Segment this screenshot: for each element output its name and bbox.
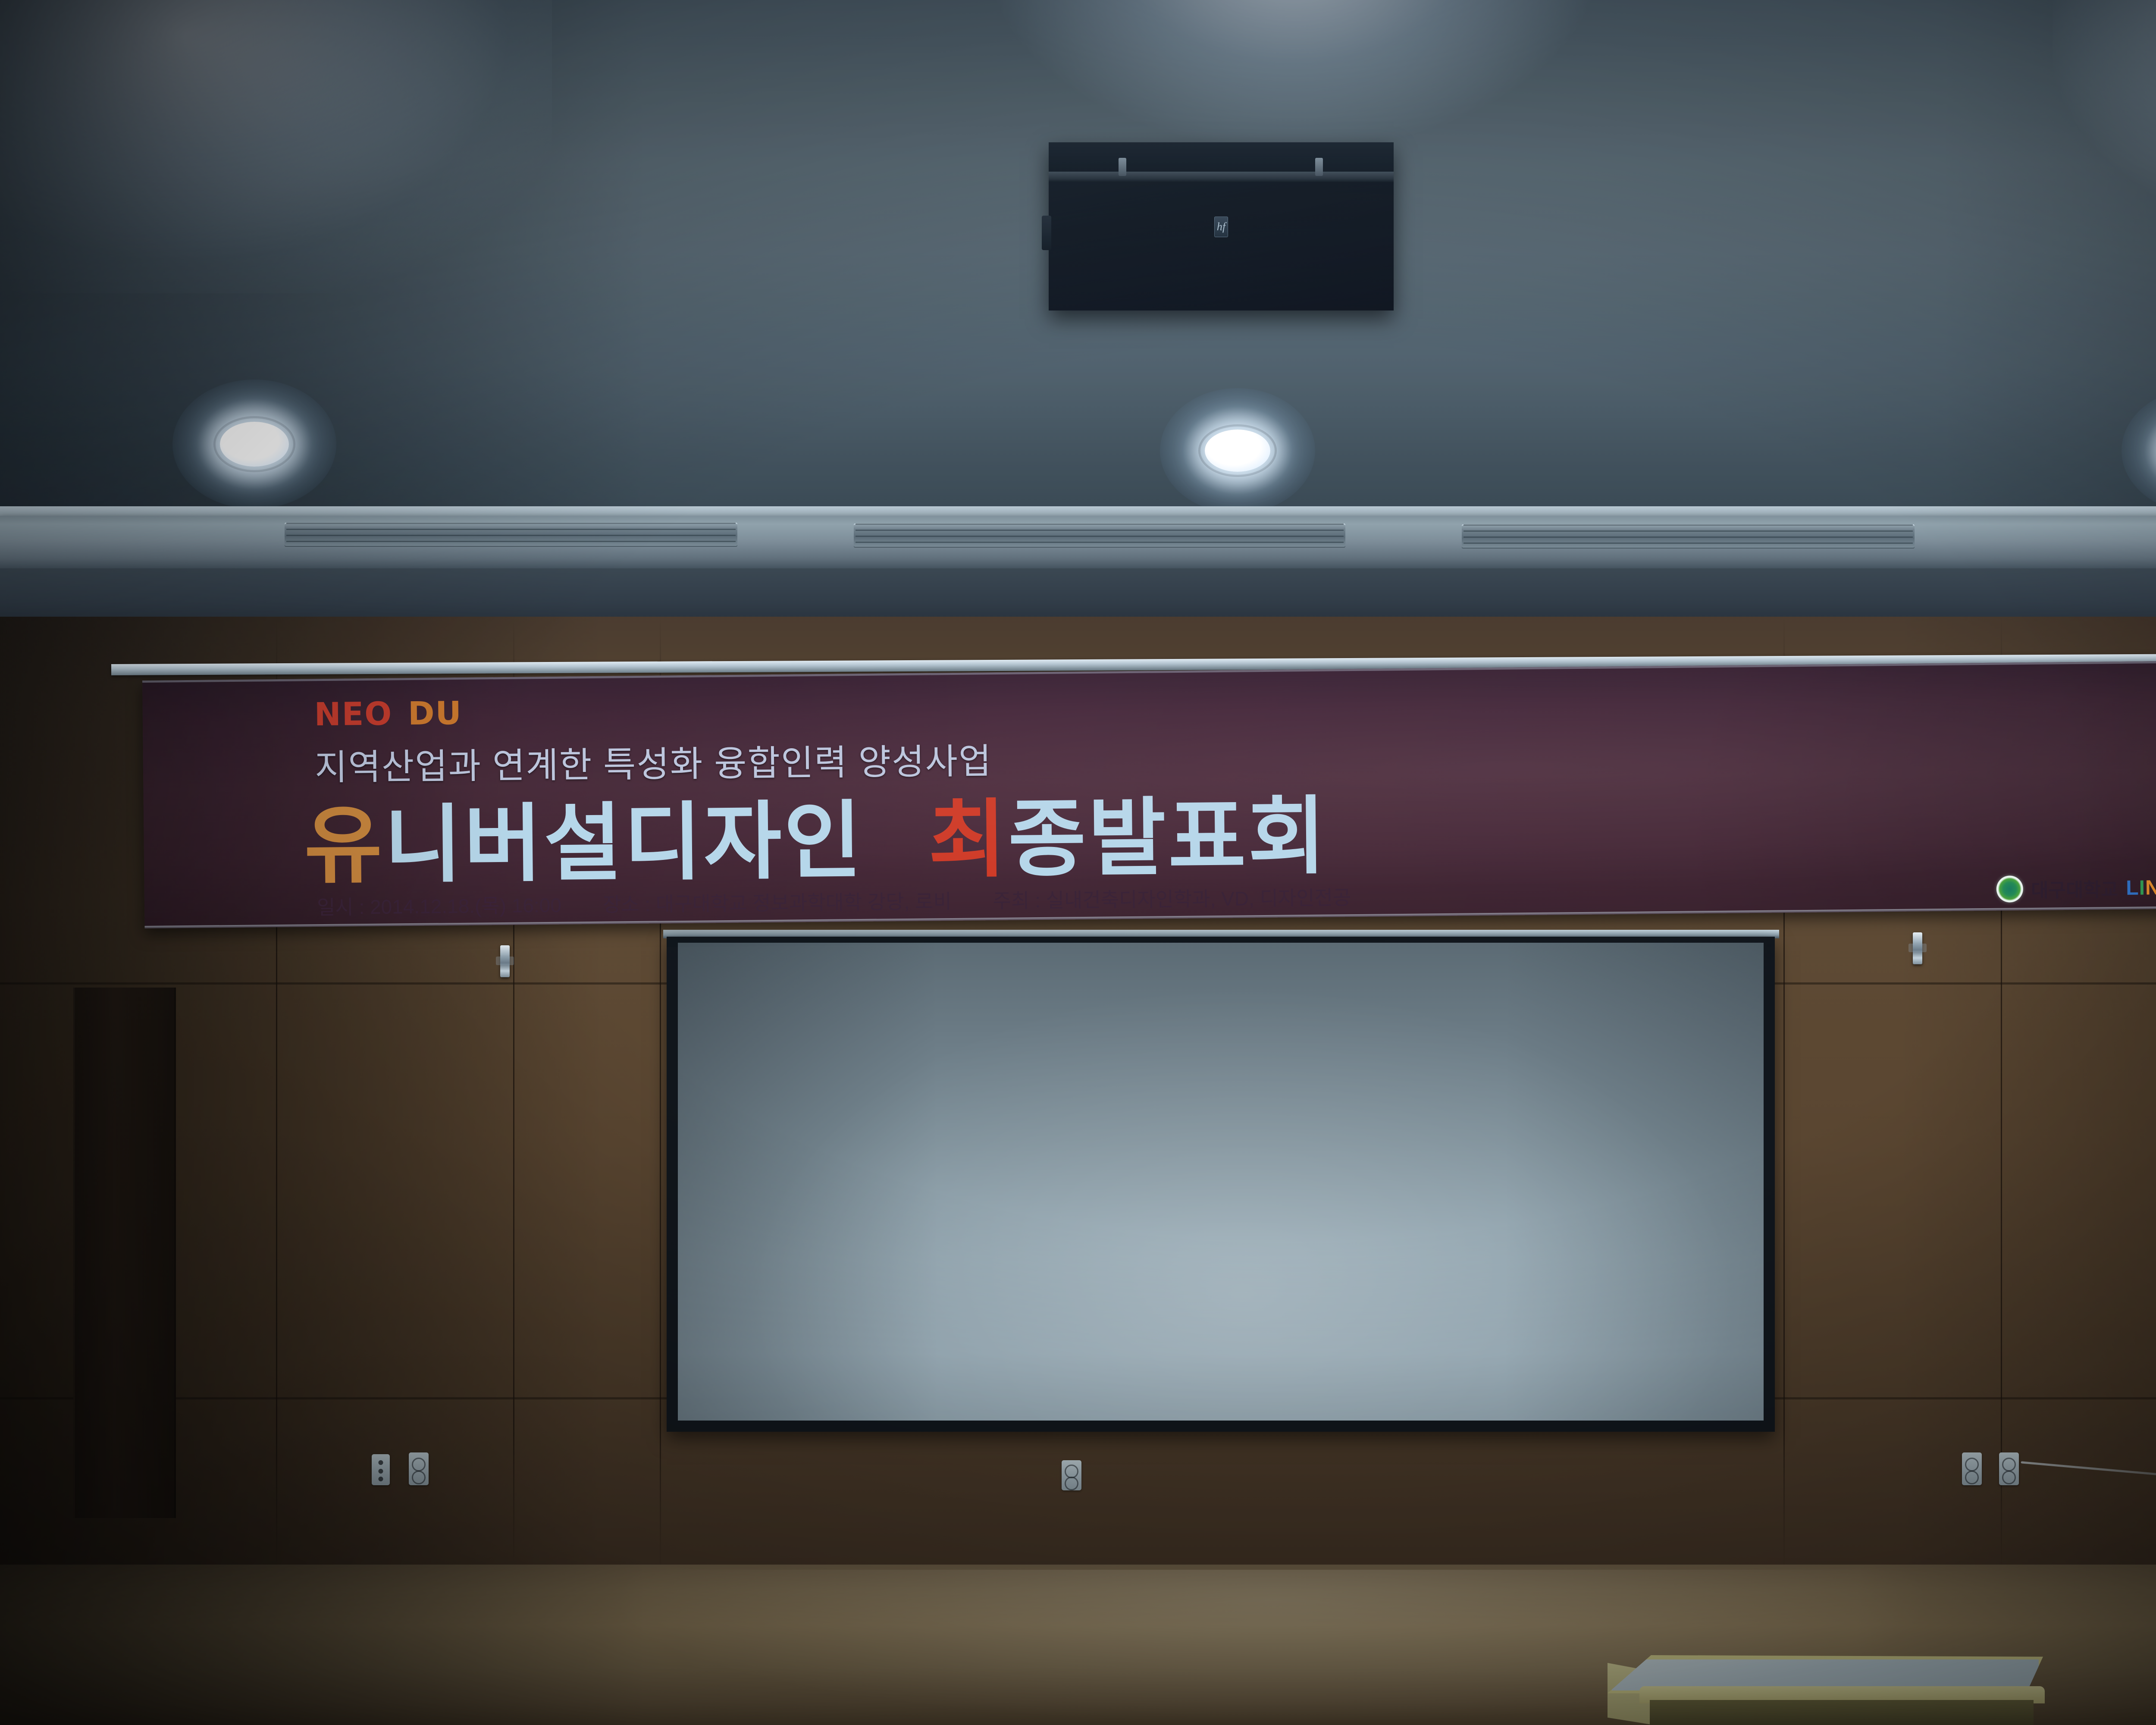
banner-title-accent-2: 최 <box>928 792 1009 888</box>
projection-screen-surface <box>678 943 1764 1421</box>
speaker-bracket-right <box>1315 158 1323 176</box>
linc-logo-lockup: 대구대학교 LINC 사업단 <box>1996 873 2156 903</box>
ceiling-vent-center <box>854 524 1345 548</box>
projection-screen <box>667 937 1775 1432</box>
plate-port <box>379 1469 383 1474</box>
plate-socket <box>1965 1471 1979 1484</box>
linc-letter-l: L <box>2126 876 2139 899</box>
plate-socket <box>1065 1477 1078 1490</box>
event-banner: NEODU 지역산업과 연계한 특성화 융합인력 양성사업 유니버설디자인최종발… <box>142 660 2156 928</box>
speaker-side-ear <box>1042 216 1051 250</box>
banner-title: 유니버설디자인최종발표회 <box>304 794 1329 889</box>
downlight-halo <box>2122 388 2156 513</box>
neodu-logo-neo: NEO <box>314 695 392 733</box>
downlight-bulb <box>1205 430 1270 472</box>
banner-clip-right <box>1913 932 1922 964</box>
ceiling-vent-left <box>285 523 737 547</box>
banner-title-main-2: 종발표회 <box>1008 789 1328 887</box>
floor-shadow-left <box>0 1565 647 1725</box>
downlight-right <box>2122 388 2156 513</box>
podium-body <box>1650 1700 2034 1725</box>
wall-plate-right[interactable] <box>1962 1452 1982 1485</box>
ceiling-glow-top-center <box>992 0 1595 147</box>
banner-info-location: 장소 : 대구대학교 정보과학대학 강당, 로비 <box>603 891 952 915</box>
linc-leaf-mark-icon <box>1996 875 2024 903</box>
wall-plate-left[interactable] <box>372 1454 390 1485</box>
podium[interactable] <box>1598 1655 2055 1725</box>
linc-wordmark: LINC <box>2126 875 2156 900</box>
ceiling-vent-right <box>1462 524 1915 549</box>
ceiling-speaker: hf <box>1049 142 1394 310</box>
speaker-bracket-left <box>1119 158 1126 176</box>
banner-info-host: 주최 : 실내건축디자인학과, VD, 디자인전공 <box>993 888 1351 911</box>
plate-socket <box>2002 1458 2016 1471</box>
photo-scene: hf NEODU 지역산업과 연계한 특성화 융합인력 양성사업 <box>0 0 2156 1725</box>
wall-plate-center[interactable] <box>1062 1460 1081 1490</box>
banner-title-main-1: 니버설디자인 <box>384 793 864 893</box>
downlight-left <box>172 379 336 509</box>
neodu-logo-du: DU <box>408 695 462 732</box>
speaker-brand-badge: hf <box>1214 216 1228 237</box>
banner-info-datetime: 일시 : 2014.12.18.(목) 16:00 <box>317 895 561 917</box>
linc-letter-n: N <box>2145 876 2156 899</box>
ceiling-bulkhead-lip <box>0 506 2156 517</box>
banner-subtitle: 지역산업과 연계한 특성화 융합인력 양성사업 <box>315 744 992 786</box>
speaker-mount-slot <box>1049 172 1394 182</box>
neodu-logo: NEODU <box>314 697 462 731</box>
plate-port <box>379 1460 383 1465</box>
downlight-center <box>1160 388 1315 513</box>
plate-socket <box>1965 1458 1979 1471</box>
banner-clip-left <box>500 945 510 977</box>
downlight-bulb <box>220 422 289 467</box>
linc-university-name: 대구대학교 <box>2031 874 2118 903</box>
wall-plate-left-b[interactable] <box>409 1452 429 1485</box>
speaker-top-panel <box>1049 142 1394 172</box>
banner-title-accent-1: 유 <box>304 798 385 894</box>
projection-screen-shading <box>678 943 1764 1421</box>
plate-socket <box>412 1471 426 1484</box>
plate-socket <box>412 1458 426 1471</box>
linc-letter-i: I <box>2139 876 2145 899</box>
wall-plate-right-b[interactable] <box>1999 1452 2019 1485</box>
plate-socket <box>2002 1471 2016 1484</box>
plate-port <box>379 1477 383 1481</box>
